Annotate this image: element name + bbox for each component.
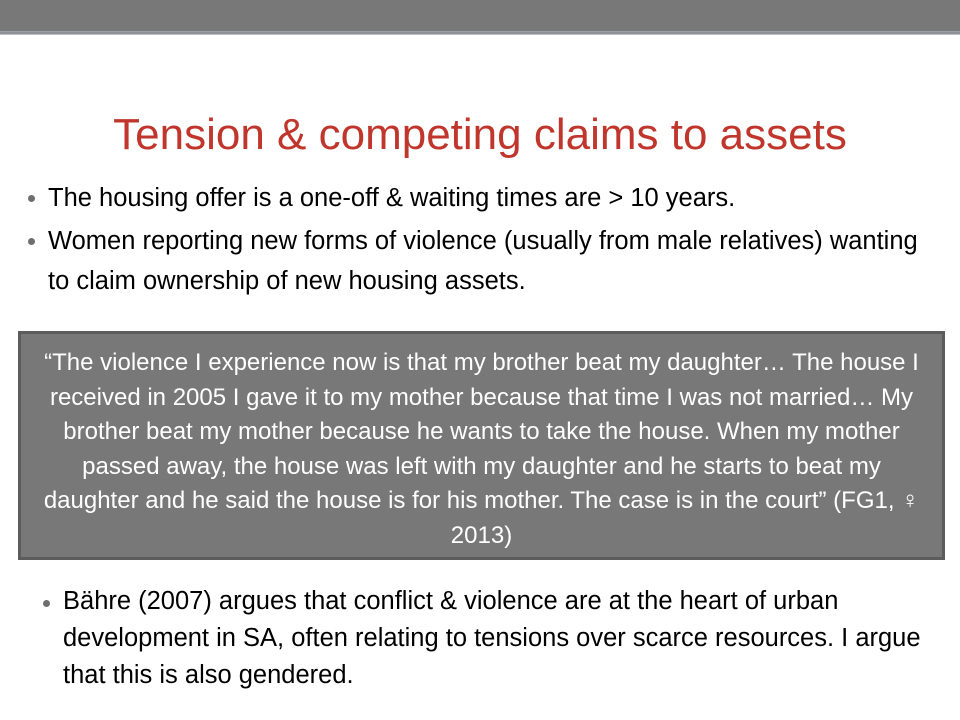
list-item: Women reporting new forms of violence (u… <box>24 221 932 301</box>
top-decorative-band <box>0 0 960 31</box>
page-title: Tension & competing claims to assets <box>0 108 960 162</box>
list-item: Bähre (2007) argues that conflict & viol… <box>39 583 929 694</box>
bottom-bullet-list: Bähre (2007) argues that conflict & viol… <box>39 583 929 694</box>
top-bullet-list: The housing offer is a one-off & waiting… <box>24 178 932 304</box>
list-item: The housing offer is a one-off & waiting… <box>24 178 932 218</box>
slide-canvas: Tension & competing claims to assets The… <box>0 0 960 720</box>
quote-callout-box: “The violence I experience now is that m… <box>18 331 945 560</box>
top-band-rule <box>0 31 960 35</box>
quote-text: “The violence I experience now is that m… <box>35 346 928 553</box>
